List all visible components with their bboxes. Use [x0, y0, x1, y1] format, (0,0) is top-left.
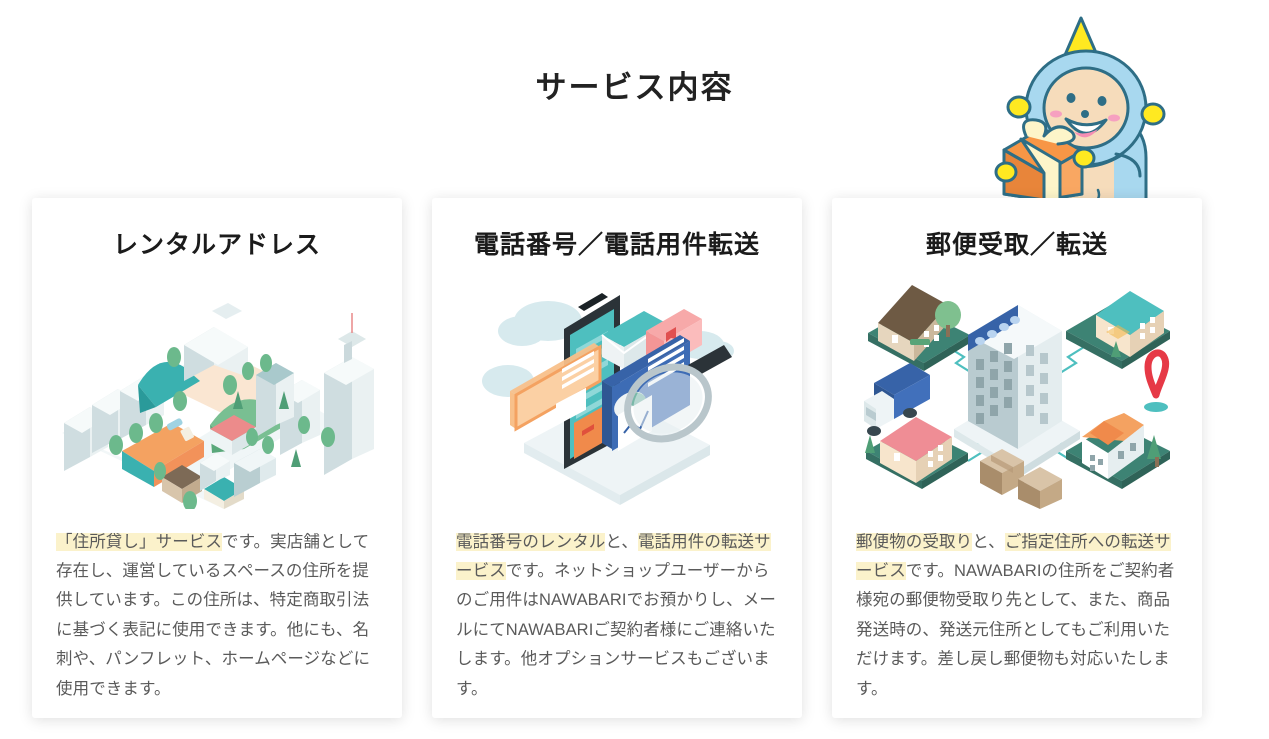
service-card-rental-address[interactable]: レンタルアドレス [32, 198, 402, 718]
highlight-phrase: 「住所貸し」サービス [56, 533, 222, 551]
card-body-rental-address: 「住所貸し」サービスです。実店舗として存在し、運営しているスペースの住所を提供し… [32, 528, 402, 704]
isometric-smartphone-icon [432, 271, 802, 511]
isometric-delivery-network-icon [832, 271, 1202, 511]
card-title-phone-forwarding: 電話番号／電話用件転送 [432, 198, 802, 261]
body-text: と、 [972, 533, 1005, 551]
service-card-phone-forwarding[interactable]: 電話番号／電話用件転送 [432, 198, 802, 718]
highlight-phrase: 郵便物の受取り [856, 533, 972, 551]
highlight-phrase: 電話番号のレンタル [456, 533, 605, 551]
card-body-phone-forwarding: 電話番号のレンタルと、電話用件の転送サービスです。ネットショップユーザーからのご… [432, 528, 802, 704]
page-title: サービス内容 [0, 69, 1269, 106]
card-title-rental-address: レンタルアドレス [32, 198, 402, 261]
body-text: です。ネットショップユーザーからのご用件はNAWABARIでお預かりし、メールに… [456, 562, 776, 697]
isometric-city-icon [32, 271, 402, 511]
service-card-mail-forwarding[interactable]: 郵便受取／転送 [832, 198, 1202, 718]
body-text: です。NAWABARIの住所をご契約者様宛の郵便物受取り先として、また、商品発送… [856, 562, 1174, 697]
card-title-mail-forwarding: 郵便受取／転送 [832, 198, 1202, 261]
card-body-mail-forwarding: 郵便物の受取りと、ご指定住所への転送サービスです。NAWABARIの住所をご契約… [832, 528, 1202, 704]
body-text: です。実店舗として存在し、運営しているスペースの住所を提供しています。この住所は… [56, 533, 370, 698]
service-card-row: レンタルアドレス [0, 198, 1269, 720]
body-text: と、 [605, 533, 638, 551]
